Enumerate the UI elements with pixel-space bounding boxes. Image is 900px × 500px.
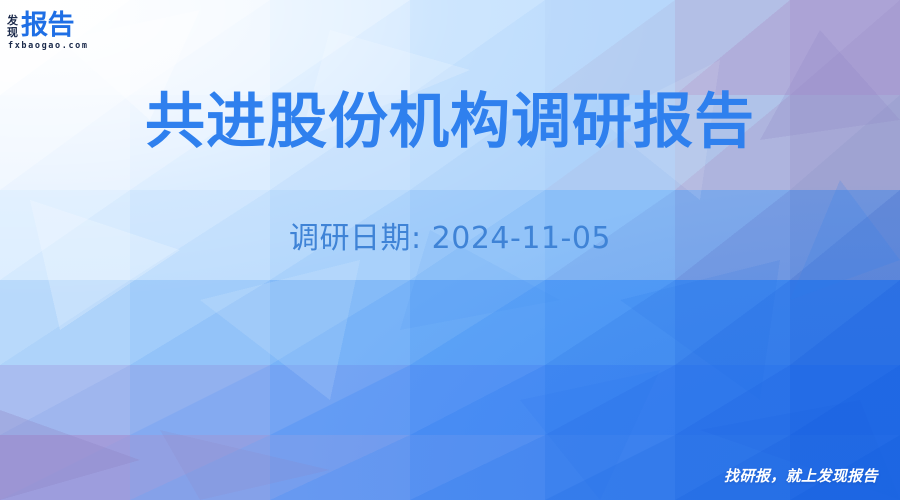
page-title: 共进股份机构调研报告 <box>0 86 900 158</box>
logo-wordmark: 报告 <box>21 11 74 40</box>
logo-character-xian: 现 <box>7 27 18 39</box>
survey-date-label: 调研日期: 2024-11-05 <box>0 220 900 258</box>
logo-stacked-characters: 发 现 <box>7 15 18 40</box>
report-cover-slide: 发 现 报告 fxbaogao.com 共进股份机构调研报告 调研日期: 202… <box>0 0 900 500</box>
cover-headline-block: 共进股份机构调研报告 调研日期: 2024-11-05 <box>0 86 900 258</box>
logo-wordmark-row: 发 现 报告 <box>7 9 127 40</box>
footer-tagline: 找研报，就上发现报告 <box>724 466 878 486</box>
logo-domain-text: fxbaogao.com <box>7 41 127 52</box>
site-logo[interactable]: 发 现 报告 fxbaogao.com <box>7 9 127 55</box>
